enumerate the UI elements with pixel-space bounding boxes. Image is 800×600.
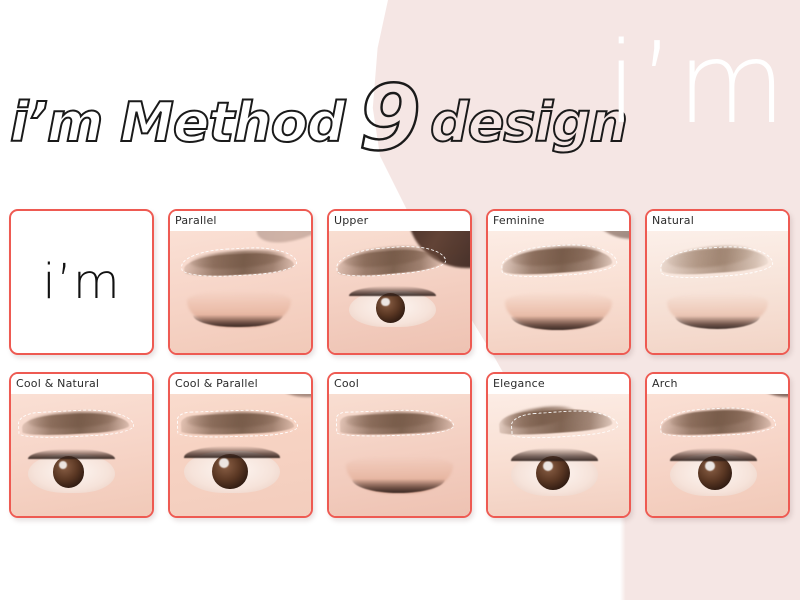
eyebrow-photo-arch <box>647 374 788 516</box>
design-card-parallel[interactable]: Parallel <box>168 209 313 355</box>
title-part-one: i’m Method <box>10 91 344 154</box>
design-card-cool[interactable]: Cool <box>327 372 472 518</box>
page-title: i’m Method 9 design <box>10 58 627 163</box>
brand-logo-text: i’m <box>42 258 120 306</box>
eyebrow-photo-cool <box>329 374 470 516</box>
eyebrow-photo-cool-parallel <box>170 374 311 516</box>
design-card-label: Cool <box>329 374 470 394</box>
design-card-label: Parallel <box>170 211 311 231</box>
header: i’m Method 9 design i’m <box>0 0 800 195</box>
design-card-upper[interactable]: Upper <box>327 209 472 355</box>
design-card-label: Cool & Natural <box>11 374 152 394</box>
design-card-label: Arch <box>647 374 788 394</box>
title-part-two: design <box>430 91 627 154</box>
design-card-label: Cool & Parallel <box>170 374 311 394</box>
design-card-natural[interactable]: Natural <box>645 209 790 355</box>
design-card-elegance[interactable]: Elegance <box>486 372 631 518</box>
design-card-cool-parallel[interactable]: Cool & Parallel <box>168 372 313 518</box>
eyebrow-photo-upper <box>329 211 470 353</box>
title-number-nine: 9 <box>358 66 420 171</box>
eyebrow-photo-parallel <box>170 211 311 353</box>
eyebrow-photo-natural <box>647 211 788 353</box>
brand-logo-card[interactable]: i’m <box>9 209 154 355</box>
design-card-label: Natural <box>647 211 788 231</box>
design-card-arch[interactable]: Arch <box>645 372 790 518</box>
eyebrow-photo-feminine <box>488 211 629 353</box>
eyebrow-photo-cool-natural <box>11 374 152 516</box>
design-card-label: Upper <box>329 211 470 231</box>
design-card-feminine[interactable]: Feminine <box>486 209 631 355</box>
design-card-label: Elegance <box>488 374 629 394</box>
design-card-label: Feminine <box>488 211 629 231</box>
design-card-cool-natural[interactable]: Cool & Natural <box>9 372 154 518</box>
brand-watermark: i’m <box>606 28 788 140</box>
eyebrow-photo-elegance <box>488 374 629 516</box>
design-grid: i’m Parallel Upper Feminin <box>9 209 793 518</box>
